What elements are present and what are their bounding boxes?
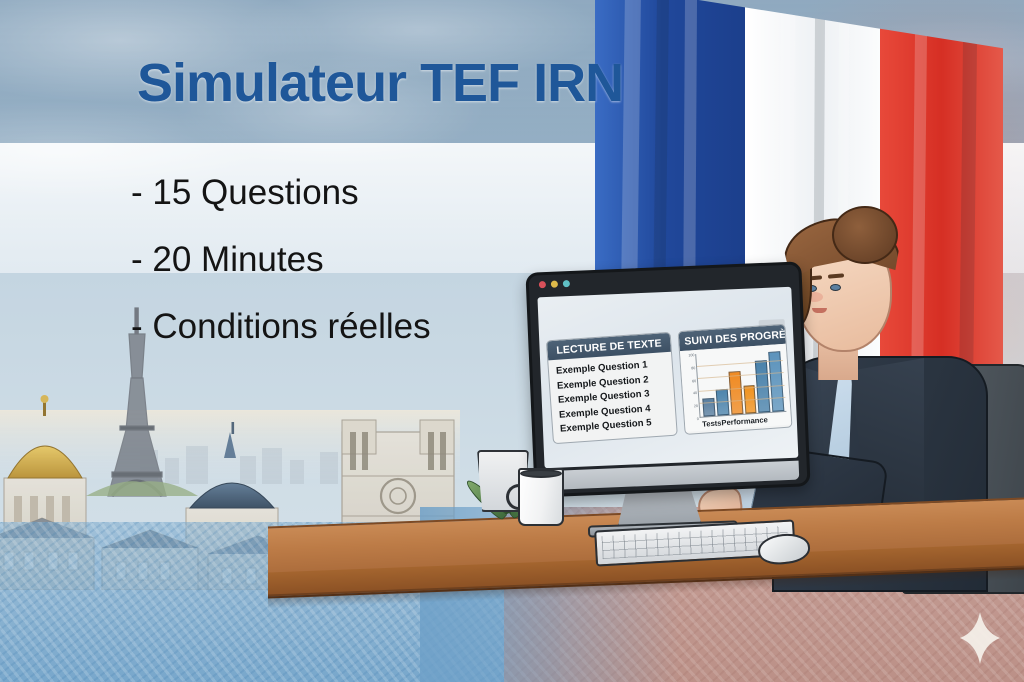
list-item: - 15 Questions — [131, 175, 561, 212]
chart-y-tick: 100 — [688, 354, 694, 358]
eye-right — [830, 284, 841, 291]
question-list: Exemple Question 1 Exemple Question 2 Ex… — [548, 352, 677, 443]
chart-bars — [699, 348, 784, 416]
app-panels: LECTURE DE TEXTE Exemple Question 1 Exem… — [546, 324, 793, 444]
chart-y-tick: 20 — [694, 405, 698, 409]
coffee-mug — [512, 468, 574, 530]
progress-bar-chart: 100806040200 Tests Performance — [680, 344, 791, 432]
mouse-body — [757, 531, 812, 566]
list-item: - 20 Minutes — [131, 242, 561, 279]
chart-x-label: Tests — [702, 418, 722, 428]
monitor-bezel: LECTURE DE TEXTE Exemple Question 1 Exem… — [525, 261, 810, 497]
minimize-dot-icon[interactable] — [551, 281, 558, 288]
maximize-dot-icon[interactable] — [563, 280, 570, 287]
chart-plot-area — [695, 348, 786, 418]
poster-canvas: Simulateur TEF IRN - 15 Questions - 20 M… — [0, 0, 1024, 682]
window-traffic-lights[interactable] — [539, 280, 570, 288]
chart-y-tick: 0 — [697, 418, 699, 422]
list-item: - Conditions réelles — [131, 309, 561, 346]
hair-bun — [832, 206, 898, 264]
four-point-sparkle-icon — [960, 612, 1000, 664]
reading-panel[interactable]: LECTURE DE TEXTE Exemple Question 1 Exem… — [546, 332, 678, 444]
page-title: Simulateur TEF IRN — [137, 52, 623, 114]
progress-panel[interactable]: SUIVI DES PROGRÈS 100806040200 Tests Per… — [678, 324, 793, 435]
chart-bar — [702, 398, 715, 416]
monitor-screen[interactable]: LECTURE DE TEXTE Exemple Question 1 Exem… — [537, 287, 798, 468]
chart-y-tick: 40 — [693, 392, 697, 396]
chart-y-tick: 60 — [692, 380, 696, 384]
chart-x-label: Performance — [721, 415, 768, 427]
chart-y-tick: 80 — [691, 367, 695, 371]
close-dot-icon[interactable] — [539, 281, 546, 288]
computer-mouse[interactable] — [757, 531, 812, 566]
feature-list: - 15 Questions - 20 Minutes - Conditions… — [131, 175, 561, 375]
chart-bar — [728, 371, 743, 415]
coffee-surface — [520, 469, 562, 478]
